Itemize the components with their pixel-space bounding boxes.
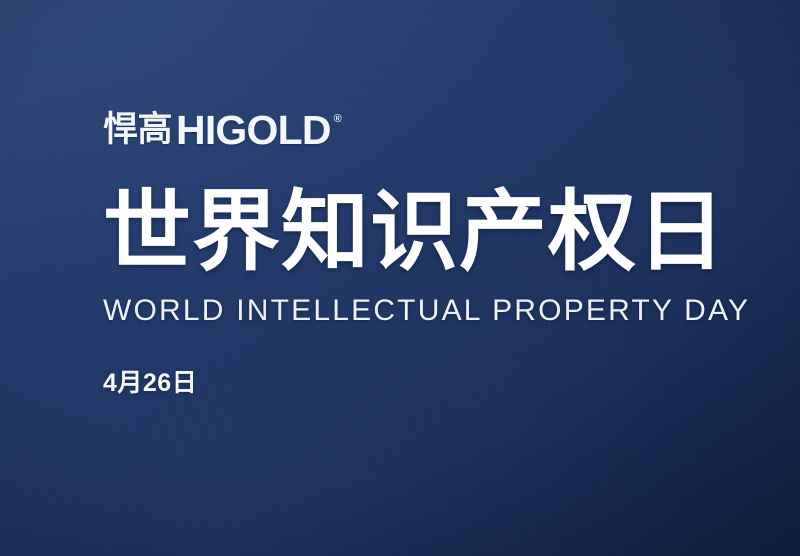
poster-content: 悍高 HIGOLD ® 世界知识产权日 WORLD INTELLECTUAL P… <box>103 108 740 398</box>
brand-name-english: HIGOLD <box>176 108 331 152</box>
event-date: 4月26日 <box>103 368 740 398</box>
brand-name-chinese: 悍高 <box>103 108 172 152</box>
headline-chinese: 世界知识产权日 <box>103 184 740 280</box>
brand-logo: 悍高 HIGOLD ® <box>103 108 740 164</box>
poster-canvas: 悍高 HIGOLD ® 世界知识产权日 WORLD INTELLECTUAL P… <box>0 0 800 556</box>
headline-english: WORLD INTELLECTUAL PROPERTY DAY <box>103 292 740 330</box>
registered-trademark-icon: ® <box>334 114 342 125</box>
